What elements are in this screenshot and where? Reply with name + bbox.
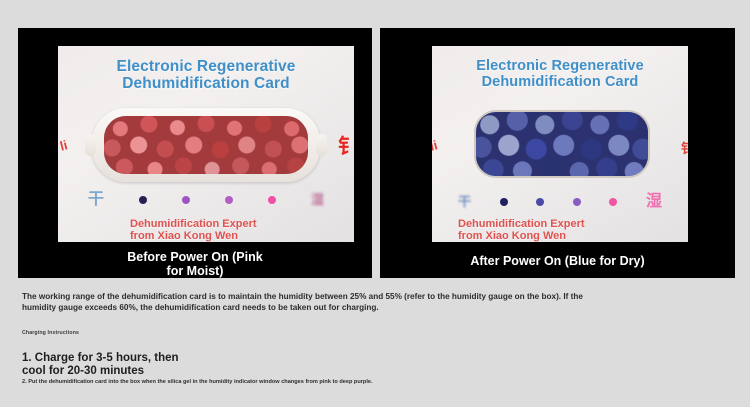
- humidity-scale-after: 干 湿: [458, 194, 662, 210]
- scale-label-wet-after: 湿: [646, 194, 662, 210]
- card-title-after: Electronic Regenerative Dehumidification…: [432, 58, 688, 90]
- edge-character-left-before: li: [58, 137, 69, 153]
- brand-line-after: Dehumidification Expert from Xiao Kong W…: [458, 218, 585, 242]
- photo-panel-after: Electronic Regenerative Dehumidification…: [380, 28, 735, 278]
- bezel-tab-left-icon: [85, 134, 96, 156]
- working-range-text: The working range of the dehumidificatio…: [22, 291, 612, 313]
- edge-character-right-before: 钅: [338, 130, 354, 159]
- scale-dot-1: [500, 198, 508, 206]
- charging-step-1: 1. Charge for 3-5 hours, then cool for 2…: [22, 352, 179, 378]
- scale-dot-4: [609, 198, 617, 206]
- charging-instructions-heading: Charging Instructions: [22, 330, 79, 336]
- scale-label-dry-before: 干: [88, 192, 104, 208]
- edge-character-left-after: li: [432, 137, 439, 153]
- product-card-before: Electronic Regenerative Dehumidification…: [58, 46, 354, 242]
- scale-dot-2: [536, 198, 544, 206]
- screenshot-root: Electronic Regenerative Dehumidification…: [0, 0, 750, 407]
- scale-dot-3: [573, 198, 581, 206]
- scale-dot-2: [182, 196, 190, 204]
- silica-beads-blue: [476, 112, 648, 176]
- scale-dot-1: [139, 196, 147, 204]
- silica-bead-window-after: [474, 110, 650, 178]
- caption-after: After Power On (Blue for Dry): [380, 254, 735, 268]
- product-card-after: Electronic Regenerative Dehumidification…: [432, 46, 688, 242]
- brand-line-before: Dehumidification Expert from Xiao Kong W…: [130, 218, 257, 242]
- humidity-scale-before: 干 湿: [88, 192, 324, 208]
- charging-step-2: 2. Put the dehumidification card into th…: [22, 378, 373, 386]
- photo-panel-before: Electronic Regenerative Dehumidification…: [18, 28, 372, 278]
- silica-bead-window-before: [104, 116, 308, 174]
- scale-dot-3: [225, 196, 233, 204]
- scale-dot-4: [268, 196, 276, 204]
- scale-label-dry-after: 干: [458, 194, 471, 210]
- edge-character-right-after: 钅: [681, 138, 688, 157]
- card-title-before: Electronic Regenerative Dehumidification…: [58, 58, 354, 92]
- scale-label-wet-before: 湿: [311, 192, 324, 208]
- bezel-tab-right-icon: [316, 134, 327, 156]
- caption-before: Before Power On (Pink for Moist): [18, 250, 372, 278]
- silica-beads-pink: [104, 116, 308, 174]
